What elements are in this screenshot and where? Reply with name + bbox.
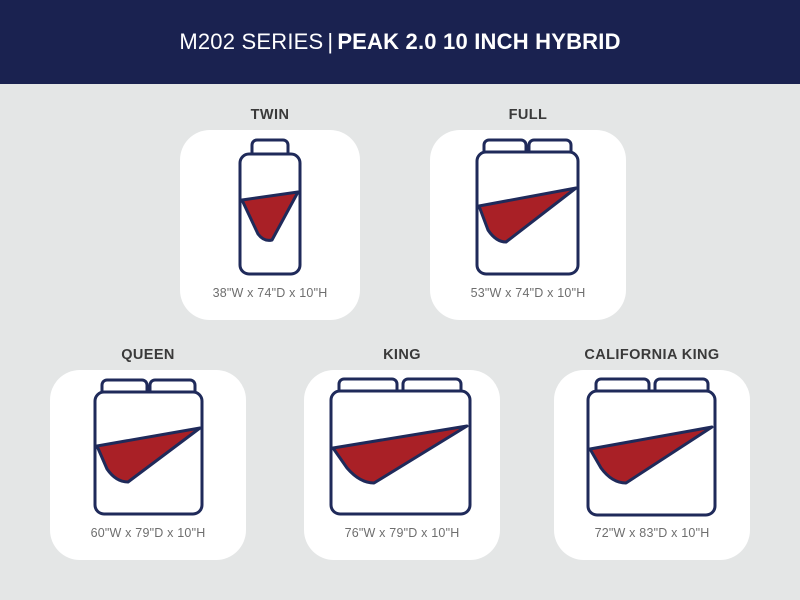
size-title-twin: TWIN xyxy=(180,106,360,124)
size-title-california-king: CALIFORNIA KING xyxy=(554,346,750,364)
size-dimensions-california-king: 72"W x 83"D x 10"H xyxy=(595,526,710,540)
size-card-body-full: 53"W x 74"D x 10"H xyxy=(430,130,626,320)
size-dimensions-queen: 60"W x 79"D x 10"H xyxy=(91,526,206,540)
size-card-body-california-king: 72"W x 83"D x 10"H xyxy=(554,370,750,560)
size-title-full: FULL xyxy=(430,106,626,124)
size-card-twin[interactable]: TWIN 38"W x 74"D x 10"H xyxy=(180,106,360,320)
size-card-body-king: 76"W x 79"D x 10"H xyxy=(304,370,500,560)
size-card-california-king[interactable]: CALIFORNIA KING 72"W x 83"D x 10"H xyxy=(554,346,750,560)
bed-diagram-queen xyxy=(50,370,246,520)
size-dimensions-twin: 38"W x 74"D x 10"H xyxy=(213,286,328,300)
size-title-king: KING xyxy=(304,346,500,364)
size-title-queen: QUEEN xyxy=(50,346,246,364)
size-card-full[interactable]: FULL 53"W x 74"D x 10"H xyxy=(430,106,626,320)
bed-diagram-california-king xyxy=(554,370,750,520)
header-bar: M202 SERIES|PEAK 2.0 10 INCH HYBRID xyxy=(0,0,800,84)
page-title: M202 SERIES|PEAK 2.0 10 INCH HYBRID xyxy=(179,29,620,55)
series-label: M202 SERIES xyxy=(179,29,323,54)
model-label: PEAK 2.0 10 INCH HYBRID xyxy=(337,29,620,54)
size-card-body-queen: 60"W x 79"D x 10"H xyxy=(50,370,246,560)
bed-diagram-twin xyxy=(180,130,360,280)
bed-diagram-king xyxy=(304,370,500,520)
title-divider: | xyxy=(323,29,337,54)
size-card-king[interactable]: KING 76"W x 79"D x 10"H xyxy=(304,346,500,560)
bed-diagram-full xyxy=(430,130,626,280)
size-dimensions-full: 53"W x 74"D x 10"H xyxy=(471,286,586,300)
size-card-body-twin: 38"W x 74"D x 10"H xyxy=(180,130,360,320)
size-card-queen[interactable]: QUEEN 60"W x 79"D x 10"H xyxy=(50,346,246,560)
mattress-size-chart-page: M202 SERIES|PEAK 2.0 10 INCH HYBRID TWIN… xyxy=(0,0,800,600)
size-dimensions-king: 76"W x 79"D x 10"H xyxy=(345,526,460,540)
